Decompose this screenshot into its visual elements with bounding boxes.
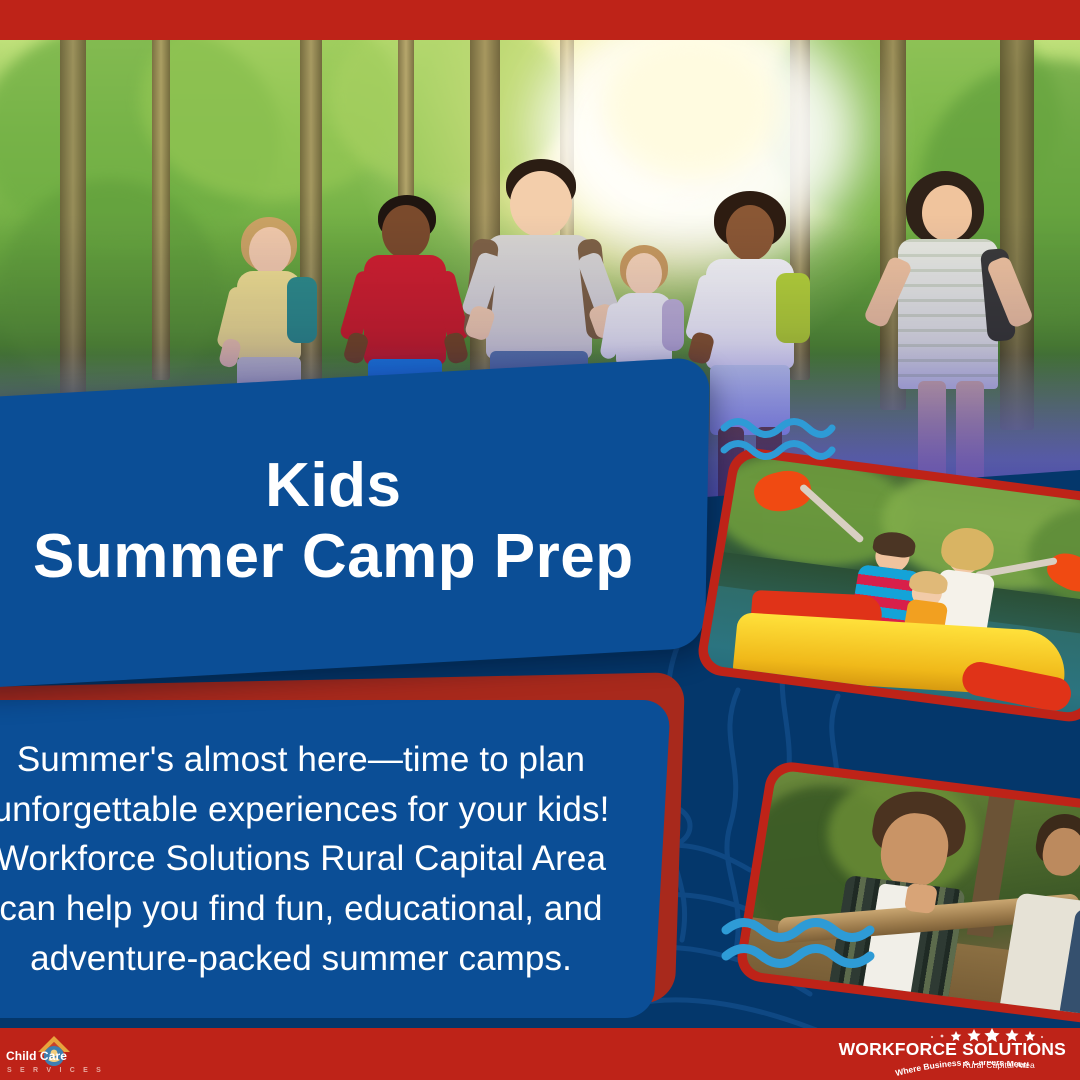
wavy-water-lines-top-icon bbox=[718, 412, 838, 466]
child-care-logo-subtitle: S E R V I C E S bbox=[7, 1067, 104, 1074]
title-line-2: Summer Camp Prep bbox=[33, 520, 634, 593]
body-copy-text: Summer's almost here—time to plan unforg… bbox=[0, 735, 631, 983]
kayak-photo bbox=[705, 456, 1080, 715]
workforce-tagline: Where Business & Careers Meet! bbox=[887, 1061, 1062, 1079]
top-red-bar bbox=[0, 0, 1080, 40]
wavy-water-lines-bottom-icon bbox=[718, 912, 888, 972]
child-care-logo-name: Child Care bbox=[6, 1049, 67, 1063]
title-line-1: Kids bbox=[33, 453, 634, 520]
svg-text:Where Business & Careers Meet!: Where Business & Careers Meet! bbox=[894, 1061, 1029, 1078]
title-card: Kids Summer Camp Prep bbox=[0, 357, 710, 690]
body-copy-card: Summer's almost here—time to plan unforg… bbox=[0, 700, 671, 1018]
workforce-logo-title: WORKFORCE SOLUTIONS bbox=[839, 1039, 1066, 1060]
social-graphic-canvas: Kids Summer Camp Prep Summer's almost he… bbox=[0, 0, 1080, 1080]
hike-photo bbox=[744, 769, 1080, 1018]
